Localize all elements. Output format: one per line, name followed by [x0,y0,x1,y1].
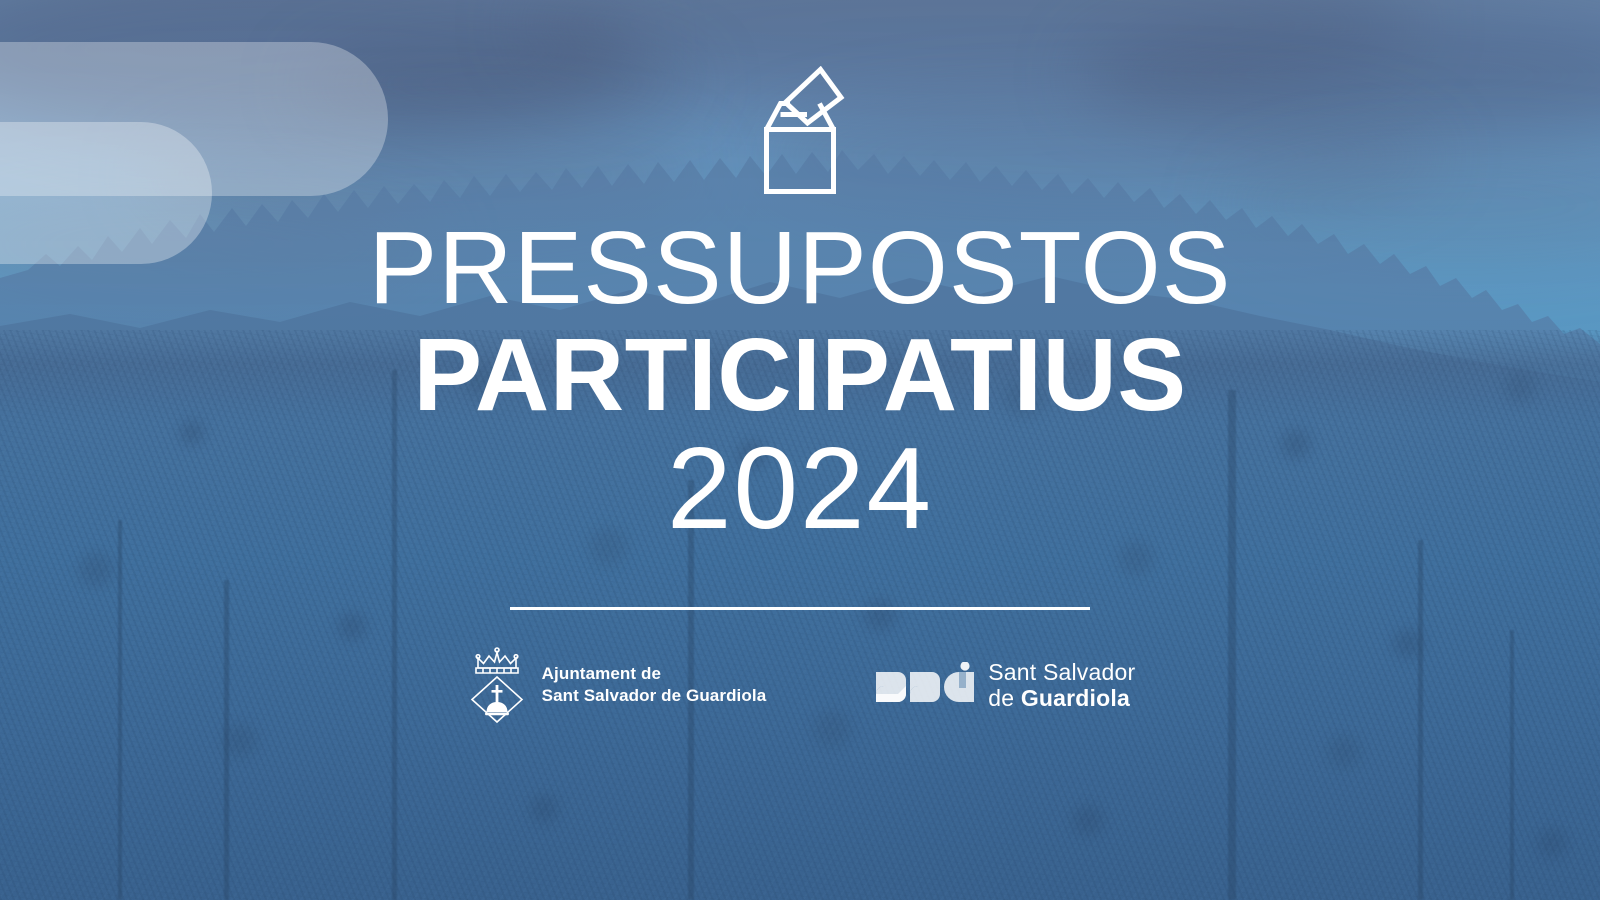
poster-canvas: PRESSUPOSTOS PARTICIPATIUS 2024 [0,0,1600,900]
ajuntament-crest-icon [465,646,529,724]
ajuntament-line-2: Sant Salvador de Guardiola [542,685,767,707]
title-line-3: 2024 [369,428,1232,549]
ajuntament-logo: Ajuntament de Sant Salvador de Guardiola [465,646,767,724]
title-line-2: PARTICIPATIUS [369,321,1232,428]
ssg-monogram-icon [876,662,974,708]
ajuntament-line-1: Ajuntament de [542,663,767,685]
ssg-line-1: Sant Salvador [988,659,1135,685]
ballot-box-icon [744,66,856,200]
logo-row: Ajuntament de Sant Salvador de Guardiola [465,646,1136,724]
ssg-line-2-light: de [988,685,1021,711]
ajuntament-wordmark: Ajuntament de Sant Salvador de Guardiola [542,663,767,707]
ssg-line-2-bold: Guardiola [1021,685,1130,711]
ssg-line-2: de Guardiola [988,685,1135,711]
page-title: PRESSUPOSTOS PARTICIPATIUS 2024 [369,214,1232,549]
ssg-logo: Sant Salvador de Guardiola [876,659,1135,711]
ssg-wordmark: Sant Salvador de Guardiola [988,659,1135,711]
title-line-1: PRESSUPOSTOS [369,214,1232,321]
divider [510,607,1090,610]
poster-content: PRESSUPOSTOS PARTICIPATIUS 2024 [0,0,1600,900]
